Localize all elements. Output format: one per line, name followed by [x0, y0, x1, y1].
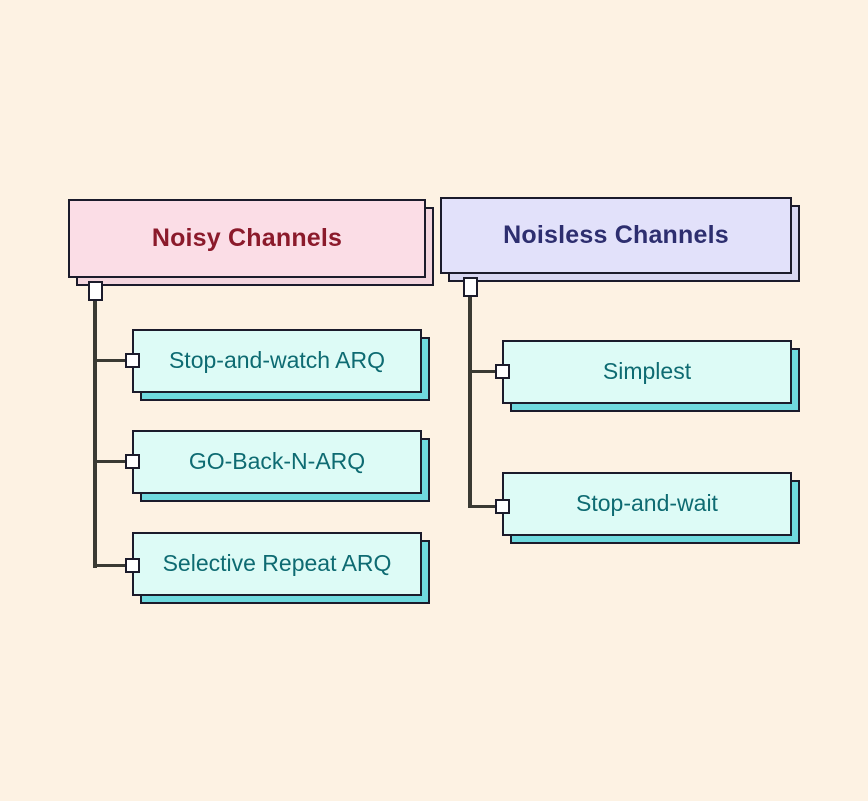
connector-branch-noisy-1: [93, 359, 129, 362]
node-simplest[interactable]: Simplest: [502, 340, 792, 404]
connector-port-noiseless-root: [463, 277, 478, 297]
connector-port-stop-and-watch-arq: [125, 353, 140, 368]
node-selective-repeat-arq[interactable]: Selective Repeat ARQ: [132, 532, 422, 596]
node-go-back-n-arq[interactable]: GO-Back-N-ARQ: [132, 430, 422, 494]
node-noiseless-channels[interactable]: Noisless Channels: [440, 197, 792, 274]
connector-port-go-back-n-arq: [125, 454, 140, 469]
connector-trunk-noisy: [93, 300, 97, 568]
node-label-selective-repeat-arq: Selective Repeat ARQ: [163, 551, 392, 576]
connector-port-stop-and-wait: [495, 499, 510, 514]
connector-port-selective-repeat-arq: [125, 558, 140, 573]
node-stop-and-watch-arq[interactable]: Stop-and-watch ARQ: [132, 329, 422, 393]
node-stop-and-wait[interactable]: Stop-and-wait: [502, 472, 792, 536]
diagram-canvas: Noisy Channels Stop-and-watch ARQ GO-Bac…: [0, 0, 868, 801]
connector-port-noisy-root: [88, 281, 103, 301]
node-label-noiseless-channels: Noisless Channels: [503, 222, 729, 250]
connector-branch-noisy-2: [93, 460, 129, 463]
connector-trunk-noiseless: [468, 296, 472, 508]
connector-branch-noisy-3: [93, 564, 129, 567]
node-label-simplest: Simplest: [603, 359, 691, 384]
connector-port-simplest: [495, 364, 510, 379]
node-noisy-channels[interactable]: Noisy Channels: [68, 199, 426, 278]
node-label-stop-and-watch-arq: Stop-and-watch ARQ: [169, 348, 385, 373]
node-label-noisy-channels: Noisy Channels: [152, 225, 342, 253]
node-label-stop-and-wait: Stop-and-wait: [576, 491, 718, 516]
node-label-go-back-n-arq: GO-Back-N-ARQ: [189, 449, 365, 474]
